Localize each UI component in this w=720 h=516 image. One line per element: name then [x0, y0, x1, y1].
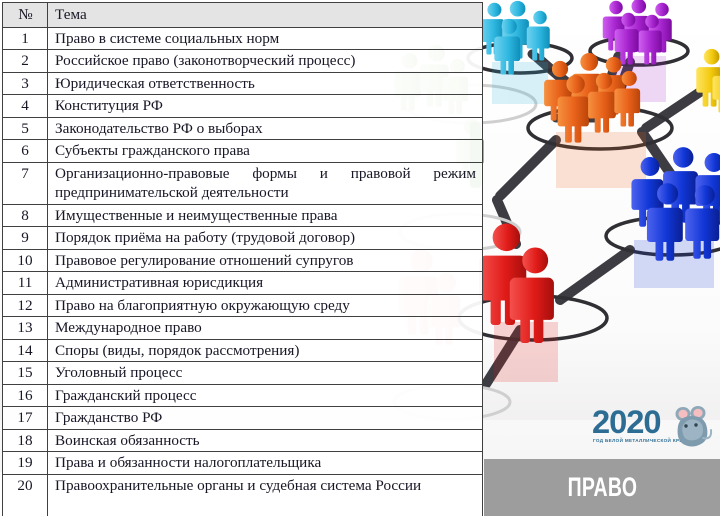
row-topic: Гражданский процесс	[48, 384, 483, 407]
row-topic: Административная юрисдикция	[48, 272, 483, 295]
table-row: 6Субъекты гражданского права	[3, 140, 483, 163]
row-topic: Субъекты гражданского права	[48, 140, 483, 163]
table-row: 19Права и обязанности налогоплательщика	[3, 452, 483, 475]
table-row: 10Правовое регулирование отношений супру…	[3, 249, 483, 272]
row-number: 12	[3, 294, 48, 317]
table-row: 11Административная юрисдикция	[3, 272, 483, 295]
table-row: 14Споры (виды, порядок рассмотрения)	[3, 339, 483, 362]
row-number: 5	[3, 117, 48, 140]
row-number: 11	[3, 272, 48, 295]
row-number: 17	[3, 407, 48, 430]
row-number: 4	[3, 95, 48, 118]
row-number: 16	[3, 384, 48, 407]
header-topic: Тема	[48, 3, 483, 28]
row-topic: Уголовный процесс	[48, 362, 483, 385]
table-row: 5Законодательство РФ о выборах	[3, 117, 483, 140]
table-body: 1Право в системе социальных норм2Российс…	[3, 27, 483, 516]
slide-canvas: 2020 ГОД БЕЛОЙ МЕТАЛЛИЧЕСКОЙ КРЫСЫ ПРАВО…	[0, 0, 720, 516]
row-topic: Порядок приёма на работу (трудовой догов…	[48, 227, 483, 250]
row-number: 20	[3, 474, 48, 516]
table-row: 1Право в системе социальных норм	[3, 27, 483, 50]
row-number: 18	[3, 429, 48, 452]
header-number: №	[3, 3, 48, 28]
row-topic: Юридическая ответственность	[48, 72, 483, 95]
row-topic: Споры (виды, порядок рассмотрения)	[48, 339, 483, 362]
year-2020-logo: 2020 ГОД БЕЛОЙ МЕТАЛЛИЧЕСКОЙ КРЫСЫ	[592, 404, 716, 452]
table-row: 13Международное право	[3, 317, 483, 340]
subject-banner: ПРАВО	[484, 459, 720, 516]
row-topic: Законодательство РФ о выборах	[48, 117, 483, 140]
row-topic: Права и обязанности налогоплательщика	[48, 452, 483, 475]
table-row: 20Правоохранительные органы и судебная с…	[3, 474, 483, 516]
row-topic: Имущественные и неимущественные права	[48, 204, 483, 227]
row-topic: Гражданство РФ	[48, 407, 483, 430]
table-row: 4Конституция РФ	[3, 95, 483, 118]
row-number: 14	[3, 339, 48, 362]
topics-table: № Тема 1Право в системе социальных норм2…	[2, 2, 483, 516]
table-row: 12Право на благоприятную окружающую сред…	[3, 294, 483, 317]
row-topic: Организационно-правовые формы и правовой…	[48, 162, 483, 204]
row-number: 19	[3, 452, 48, 475]
rat-icon	[672, 404, 714, 450]
row-number: 3	[3, 72, 48, 95]
row-number: 13	[3, 317, 48, 340]
table-row: 2Российское право (законотворческий проц…	[3, 50, 483, 73]
table-row: 8Имущественные и неимущественные права	[3, 204, 483, 227]
row-number: 6	[3, 140, 48, 163]
table-row: 7Организационно-правовые формы и правово…	[3, 162, 483, 204]
row-number: 15	[3, 362, 48, 385]
row-number: 2	[3, 50, 48, 73]
subject-banner-label: ПРАВО	[567, 472, 637, 503]
row-topic: Право на благоприятную окружающую среду	[48, 294, 483, 317]
row-topic: Право в системе социальных норм	[48, 27, 483, 50]
row-number: 1	[3, 27, 48, 50]
row-topic: Правовое регулирование отношений супруго…	[48, 249, 483, 272]
row-topic: Международное право	[48, 317, 483, 340]
table-row: 16Гражданский процесс	[3, 384, 483, 407]
row-number: 7	[3, 162, 48, 204]
table-row: 15Уголовный процесс	[3, 362, 483, 385]
table-row: 18Воинская обязанность	[3, 429, 483, 452]
row-number: 9	[3, 227, 48, 250]
table-row: 17Гражданство РФ	[3, 407, 483, 430]
row-number: 10	[3, 249, 48, 272]
row-topic: Правоохранительные органы и судебная сис…	[48, 474, 483, 516]
row-topic: Воинская обязанность	[48, 429, 483, 452]
row-number: 8	[3, 204, 48, 227]
row-topic: Конституция РФ	[48, 95, 483, 118]
logo-year-text: 2020	[592, 406, 661, 438]
row-topic: Российское право (законотворческий проце…	[48, 50, 483, 73]
table-row: 3Юридическая ответственность	[3, 72, 483, 95]
table-header-row: № Тема	[3, 3, 483, 28]
table-row: 9Порядок приёма на работу (трудовой дого…	[3, 227, 483, 250]
